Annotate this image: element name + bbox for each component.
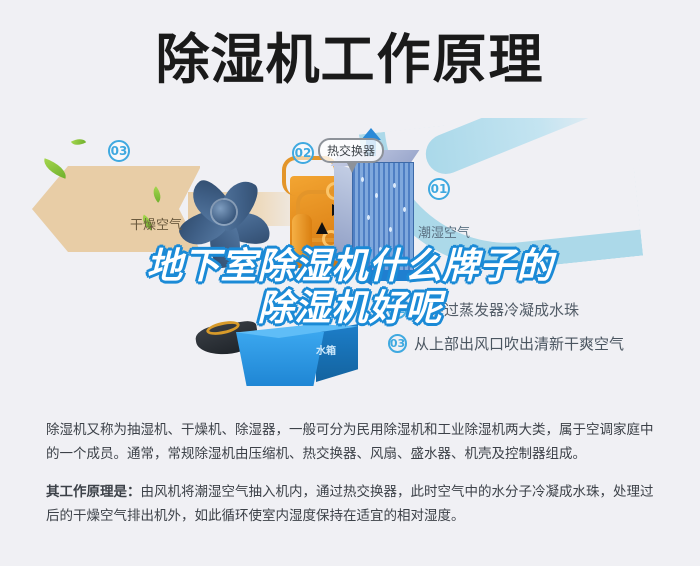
- label-dry-air: 干燥空气: [130, 214, 182, 233]
- water-droplet: [361, 177, 364, 182]
- step-badge: 03: [388, 334, 407, 353]
- step-item: 03 从上部出风口吹出清新干爽空气: [388, 326, 698, 360]
- page-title-part-a: 除湿机: [156, 28, 321, 91]
- page-root: 除湿机工作原理: [0, 0, 700, 566]
- water-droplet: [389, 227, 392, 232]
- overlay-line-1: 地下室除湿机什么牌子的: [0, 246, 700, 288]
- water-droplet: [403, 207, 406, 212]
- water-droplet: [393, 183, 396, 188]
- leaf-icon: [71, 135, 86, 148]
- paragraph-2-lead: 其工作原理是：: [46, 484, 141, 500]
- badge-step-01: 01: [428, 178, 450, 200]
- badge-step-02: 02: [292, 142, 314, 164]
- title-band: 除湿机工作原理: [0, 0, 700, 120]
- paragraph-2: 其工作原理是：由风机将潮湿空气抽入机内，通过热交换器，此时空气中的水分子冷凝成水…: [46, 480, 658, 528]
- paragraph-gap: [46, 466, 658, 480]
- water-droplet: [375, 193, 378, 198]
- label-humid-air: 潮湿空气: [418, 222, 470, 241]
- overlay-line-2: 除湿机好呢: [0, 288, 700, 330]
- label-heat-exchanger: 热交换器: [318, 138, 384, 163]
- fan-hub: [212, 200, 236, 224]
- water-tank-label: 水箱: [316, 342, 336, 357]
- page-title-part-b: 工作原理: [321, 28, 545, 91]
- paragraph-1: 除湿机又称为抽湿机、干燥机、除湿器，一般可分为民用除湿机和工业除湿机两大类，属于…: [46, 418, 658, 466]
- page-title: 除湿机工作原理: [0, 30, 700, 90]
- step-text: 从上部出风口吹出清新干爽空气: [414, 333, 624, 354]
- body-copy: 除湿机又称为抽湿机、干燥机、除湿器，一般可分为民用除湿机和工业除湿机两大类，属于…: [46, 418, 658, 528]
- overlay-headline: 地下室除湿机什么牌子的 除湿机好呢: [0, 246, 700, 330]
- water-droplet: [367, 215, 370, 220]
- badge-step-03: 03: [108, 140, 130, 162]
- flow-arrow-up-icon: [316, 222, 328, 234]
- water-tank-front: [236, 332, 324, 386]
